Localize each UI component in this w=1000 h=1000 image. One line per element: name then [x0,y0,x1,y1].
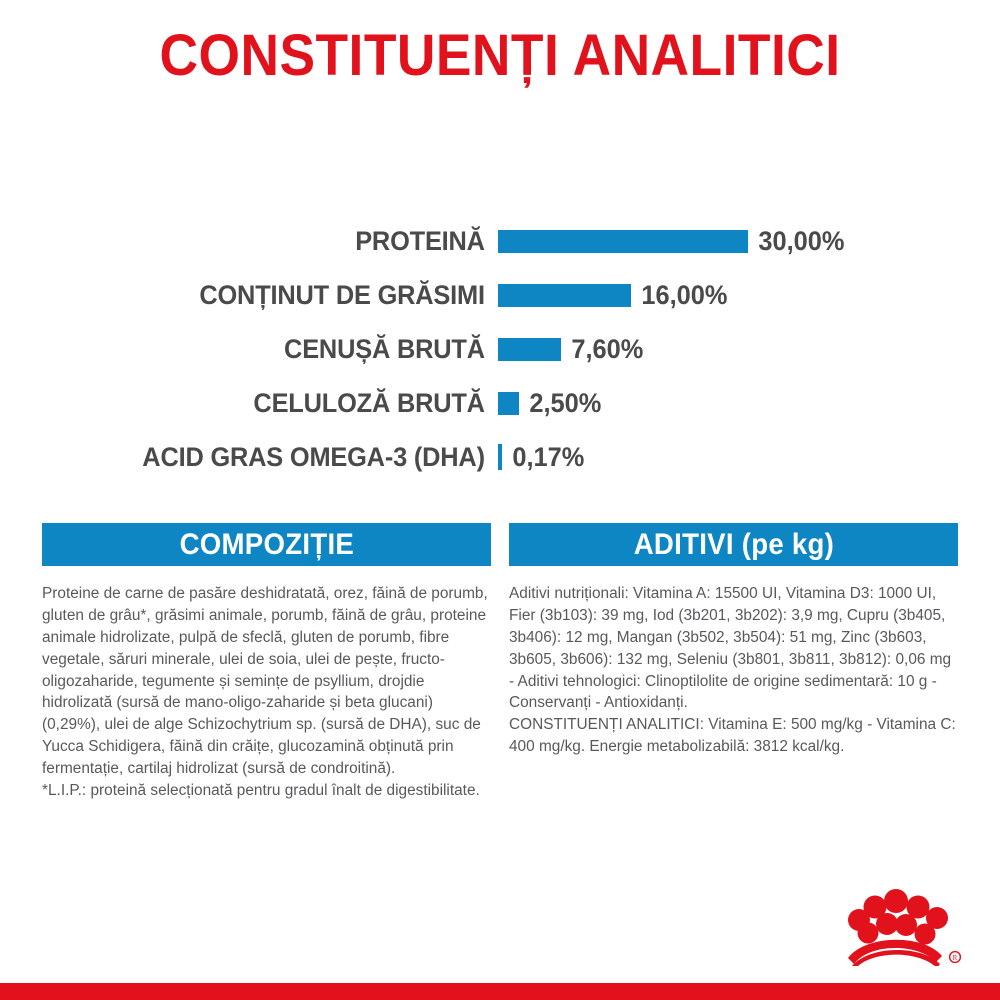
bar-label-fat: CONȚINUT DE GRĂSIMI [30,280,498,311]
bar-value-protein: 30,00% [748,226,844,257]
bar-value-fibre: 2,50% [519,388,601,419]
bar-ash [498,338,561,361]
bar-value-fat: 16,00% [631,280,727,311]
bar-wrap: 16,00% [498,280,1000,311]
chart-row: CENUȘĂ BRUTĂ 7,60% [0,322,1000,376]
panel-header-composition-label: COMPOZIȚIE [179,523,353,566]
bar-value-ash: 7,60% [561,334,643,365]
bar-label-fibre: CELULOZĂ BRUTĂ [30,388,498,419]
page-title: CONSTITUENȚI ANALITICI [40,26,960,87]
panel-header-composition: COMPOZIȚIE [42,523,491,566]
royal-canin-crown-logo: R [842,884,968,966]
bar-value-omega3: 0,17% [502,442,584,473]
crown-icon: R [842,884,968,966]
panel-header-additives: ADITIVI (pe kg) [509,523,958,566]
bottom-red-band [0,983,1000,1000]
additives-analytical-paragraph: CONSTITUENȚI ANALITICI: Vitamina E: 500 … [509,714,958,758]
bar-label-omega3: ACID GRAS OMEGA-3 (DHA) [30,442,498,473]
info-panels: COMPOZIȚIE Proteine de carne de pasăre d… [42,523,958,802]
analytical-constituents-chart: PROTEINĂ 30,00% CONȚINUT DE GRĂSIMI 16,0… [0,214,1000,484]
bar-fat [498,284,631,307]
registered-trademark-glyph: R [953,954,958,962]
bar-wrap: 2,50% [498,388,1000,419]
bar-wrap: 0,17% [498,442,1000,473]
panel-body-composition: Proteine de carne de pasăre deshidratată… [42,566,491,802]
panel-body-additives: Aditivi nutriționali: Vitamina A: 15500 … [509,566,958,758]
nutrition-infographic: CONSTITUENȚI ANALITICI PROTEINĂ 30,00% C… [0,0,1000,1000]
chart-row: PROTEINĂ 30,00% [0,214,1000,268]
bar-fibre [498,392,519,415]
bar-label-ash: CENUȘĂ BRUTĂ [30,334,498,365]
panel-composition: COMPOZIȚIE Proteine de carne de pasăre d… [42,523,491,802]
bar-wrap: 7,60% [498,334,1000,365]
bar-wrap: 30,00% [498,226,1000,257]
additives-paragraph: Aditivi nutriționali: Vitamina A: 15500 … [509,583,958,714]
chart-row: ACID GRAS OMEGA-3 (DHA) 0,17% [0,430,1000,484]
bar-label-protein: PROTEINĂ [30,226,498,257]
composition-footnote: *L.I.P.: proteină selecționată pentru gr… [42,780,491,802]
chart-row: CELULOZĂ BRUTĂ 2,50% [0,376,1000,430]
panel-header-additives-label: ADITIVI (pe kg) [633,523,833,566]
chart-row: CONȚINUT DE GRĂSIMI 16,00% [0,268,1000,322]
bar-protein [498,230,748,253]
composition-paragraph: Proteine de carne de pasăre deshidratată… [42,583,491,780]
panel-additives: ADITIVI (pe kg) Aditivi nutriționali: Vi… [509,523,958,802]
